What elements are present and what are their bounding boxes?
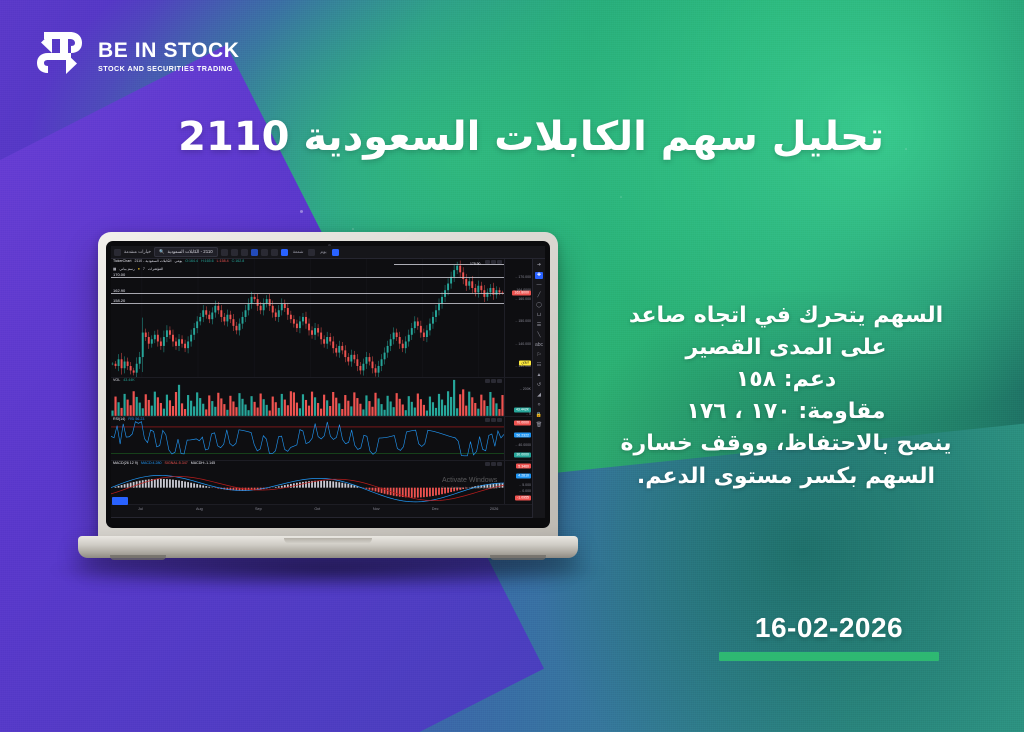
laptop-bezel: يوم شمعة 2110 - الكابلات السعودية 🔍 خيار… — [106, 241, 550, 528]
drawing-toolbar[interactable]: ➜ ✚ — ╱ ◯ ⊔ ☰ ╲ abc ⚐ ☷ ▲ ↺ ◢ ⚪ — [532, 259, 545, 518]
trend-line-icon[interactable]: — — [535, 282, 543, 289]
price-pane[interactable]: TickerChart الكابلات السعودية - 2110 يوم… — [111, 259, 532, 378]
ohlc-close: C:162.8 — [232, 260, 245, 264]
pane-hide-icon[interactable] — [485, 260, 490, 264]
rsi-level-tag[interactable]: 56.2322 — [514, 433, 531, 438]
alert-count: 7 — [143, 268, 145, 272]
rsi-level-tag[interactable]: 30.0000 — [514, 452, 531, 457]
pane-hide-icon[interactable] — [485, 462, 490, 466]
crosshair-icon[interactable]: ✚ — [535, 272, 543, 279]
price-pane-legend: TickerChart الكابلات السعودية - 2110 يوم… — [113, 260, 244, 264]
ellipse-icon[interactable]: ◯ — [535, 302, 543, 309]
price-axis[interactable]: 170.000160.000150.000140.000130.000162.8… — [504, 259, 532, 377]
measure-icon[interactable]: ⊔ — [535, 312, 543, 319]
time-axis-label: Nov — [373, 507, 380, 511]
trash-icon[interactable]: 🗑 — [535, 422, 543, 429]
laptop-base — [78, 536, 578, 558]
macd-label: MACD(26 12 9) — [113, 462, 138, 466]
brand-name: BE IN STOCK — [98, 40, 240, 61]
pane-settings-icon[interactable] — [491, 260, 496, 264]
indicators-label[interactable]: المؤشرات — [148, 268, 163, 272]
laptop-mockup: يوم شمعة 2110 - الكابلات السعودية 🔍 خيار… — [78, 232, 578, 582]
hide-drawings-icon[interactable]: ⚪ — [535, 402, 543, 409]
legend-timeframe: يومي — [174, 260, 182, 264]
symbol-label: 2110 - الكابلات السعودية — [167, 249, 212, 255]
volume-value-tag[interactable]: 43.442K — [514, 407, 531, 412]
fullscreen-icon[interactable] — [271, 249, 278, 256]
date-block: 16-02-2026 — [689, 612, 969, 661]
axis-tick: 140.000 — [515, 342, 531, 346]
last-close-tick: 164.0000 — [513, 288, 531, 292]
laptop-foot-right — [490, 555, 546, 560]
macd-value-tag[interactable]: 5.3460 — [516, 464, 531, 469]
volume-legend: VOL 43.44K — [113, 379, 135, 383]
price-level-line[interactable] — [111, 277, 504, 278]
laptop-base-notch — [284, 538, 372, 544]
axis-tick: 170.000 — [515, 275, 531, 279]
axis-tick: 5.000 — [519, 483, 531, 487]
pane-hide-icon[interactable] — [485, 379, 490, 383]
axis-tick: 0.000 — [519, 489, 531, 493]
volume-value: 43.44K — [123, 379, 134, 383]
candlestick-plot[interactable]: 170.00162.90158.20175.90 — [111, 259, 504, 377]
macd-pane[interactable]: MACD(26 12 9) MACD:4.280 SIGNAL:5.347 MA… — [111, 461, 532, 505]
double-arrow-b-logo-icon — [30, 26, 88, 84]
volume-label: VOL — [113, 379, 120, 383]
time-axis[interactable]: JulAugSepOctNovDec2026 — [111, 505, 532, 517]
chart-scrollbar[interactable] — [111, 517, 532, 518]
flag-icon[interactable]: ⚐ — [535, 352, 543, 359]
page-title: تحليل سهم الكابلات السعودية 2110 — [140, 112, 884, 162]
search-icon[interactable]: 🔍 — [159, 249, 164, 255]
rsi-level-tag[interactable]: 70.0000 — [514, 420, 531, 425]
signal-value: SIGNAL:5.347 — [165, 462, 188, 466]
legend-provider: TickerChart — [113, 260, 131, 264]
rsi-axis[interactable]: 70.000056.232230.000040.0000 — [504, 417, 532, 460]
fib-retracement-icon[interactable]: ☰ — [535, 322, 543, 329]
clock-icon[interactable] — [308, 249, 315, 256]
ohlc-open: O:164.4 — [185, 260, 198, 264]
macd-pane-controls[interactable] — [485, 462, 502, 466]
chart-type-icon[interactable]: ▩ — [113, 268, 116, 272]
time-axis-label: 2026 — [490, 507, 498, 511]
rsi-pane-controls[interactable] — [485, 418, 502, 422]
compare-icon[interactable] — [241, 249, 248, 256]
snapshot-icon[interactable] — [261, 249, 268, 256]
brand-logo: BE IN STOCK STOCK AND SECURITIES TRADING — [30, 26, 240, 84]
price-level-line[interactable] — [111, 303, 504, 304]
price-level-label: 162.90 — [112, 288, 126, 293]
analysis-line: ينصح بالاحتفاظ، ووقف خسارة — [586, 428, 986, 460]
bars-label[interactable]: شمعة — [291, 249, 306, 255]
pane-hide-icon[interactable] — [485, 418, 490, 422]
macdh-value: MACDH:-1.145 — [191, 462, 215, 466]
rsi-value: RSI 56.23 — [128, 418, 144, 422]
rsi-legend: RSI(14) RSI 56.23 — [113, 418, 144, 422]
time-axis-label: Dec — [432, 507, 439, 511]
laptop-foot-left — [110, 555, 166, 560]
interval-label[interactable]: يوم — [318, 249, 328, 255]
symbol-search-box[interactable]: 2110 - الكابلات السعودية 🔍 — [154, 247, 218, 257]
parallel-channel-icon[interactable]: ╲ — [535, 332, 543, 339]
volume-plot[interactable] — [111, 378, 504, 416]
analysis-line: على المدى القصير — [586, 332, 986, 364]
pane-controls[interactable] — [485, 260, 502, 264]
terminal-toolbar[interactable]: يوم شمعة 2110 - الكابلات السعودية 🔍 خيار… — [111, 246, 545, 259]
price-pane-toolrow[interactable]: ▩ رسم بياني ● 7 المؤشرات — [113, 268, 163, 272]
ohlc-high: H:165.6 — [201, 260, 214, 264]
time-axis-ticks[interactable]: JulAugSepOctNovDec2026 — [111, 505, 532, 517]
templates-icon[interactable] — [231, 249, 238, 256]
rsi-label: RSI(14) — [113, 418, 125, 422]
time-axis-label: Jul — [138, 507, 143, 511]
publish-date: 16-02-2026 — [689, 612, 969, 644]
alert-icon[interactable] — [114, 249, 121, 256]
forecast-icon[interactable]: ▲ — [535, 372, 543, 379]
session-close-tag[interactable]: اغلاق — [519, 360, 531, 365]
ohlc-low: L:158.4 — [217, 260, 229, 264]
volume-pane[interactable]: VOL 43.44K 200K043.442K — [111, 378, 532, 417]
date-underline-rule — [719, 652, 939, 661]
magnet-mode-icon[interactable]: ◢ — [535, 392, 543, 399]
laptop-lid: يوم شمعة 2110 - الكابلات السعودية 🔍 خيار… — [98, 232, 558, 542]
time-axis-label: Sep — [255, 507, 262, 511]
magnet-icon[interactable]: ↺ — [535, 382, 543, 389]
cursor-icon[interactable]: ➜ — [535, 262, 543, 269]
time-axis-label: Aug — [196, 507, 203, 511]
pane-remove-icon[interactable] — [497, 260, 502, 264]
ray-line-icon[interactable]: ╱ — [535, 292, 543, 299]
pane-settings-icon[interactable] — [491, 462, 496, 466]
analysis-text: السهم يتحرك في اتجاه صاعد على المدى القص… — [586, 300, 986, 493]
axis-tick: 150.000 — [515, 319, 531, 323]
pane-remove-icon[interactable] — [497, 418, 502, 422]
advanced-options-label[interactable]: خيارات متقدمة — [124, 249, 151, 255]
chart-draw-button[interactable] — [112, 497, 128, 505]
axis-tick: 0 — [526, 412, 531, 416]
macd-axis[interactable]: 5.34604.2810-1.09555.0000.000 — [504, 461, 532, 504]
replay-icon[interactable] — [251, 249, 258, 256]
brand-tagline: STOCK AND SECURITIES TRADING — [98, 65, 240, 72]
analysis-line: السهم بكسر مستوى الدعم. — [586, 461, 986, 493]
volume-axis[interactable]: 200K043.442K — [504, 378, 532, 416]
chart-type-label[interactable]: رسم بياني — [119, 268, 134, 272]
macd-legend: MACD(26 12 9) MACD:4.280 SIGNAL:5.347 MA… — [113, 462, 215, 466]
text-icon[interactable]: abc — [535, 342, 543, 349]
price-level-line[interactable] — [111, 293, 504, 294]
pencil-icon[interactable] — [332, 249, 339, 256]
pane-remove-icon[interactable] — [497, 379, 502, 383]
rsi-plot[interactable] — [111, 417, 504, 460]
patterns-icon[interactable]: ☷ — [535, 362, 543, 369]
terminal-body: TickerChart الكابلات السعودية - 2110 يوم… — [111, 259, 545, 518]
macd-value: MACD:4.280 — [141, 462, 162, 466]
axis-tick: 200K — [520, 387, 531, 391]
analysis-line-resistance: مقاومة: ١٧٠ ، ١٧٦ — [586, 396, 986, 428]
pane-settings-icon[interactable] — [491, 379, 496, 383]
legend-symbol-name: الكابلات السعودية - 2110 — [134, 260, 171, 264]
pane-remove-icon[interactable] — [497, 462, 502, 466]
analysis-line: السهم يتحرك في اتجاه صاعد — [586, 300, 986, 332]
chart-panes: TickerChart الكابلات السعودية - 2110 يوم… — [111, 259, 532, 518]
pane-settings-icon[interactable] — [491, 418, 496, 422]
trading-terminal-screen: يوم شمعة 2110 - الكابلات السعودية 🔍 خيار… — [111, 246, 545, 518]
macd-plot[interactable] — [111, 461, 504, 504]
macd-value-tag[interactable]: 4.2810 — [516, 473, 531, 478]
volume-pane-controls[interactable] — [485, 379, 502, 383]
alert-bell-icon[interactable]: ● — [138, 268, 140, 272]
settings-icon[interactable] — [281, 249, 288, 256]
top-marker-label: 175.90 — [470, 262, 480, 266]
rsi-pane[interactable]: RSI(14) RSI 56.23 70.000056.232230.00004… — [111, 417, 532, 461]
time-axis-label: Oct — [314, 507, 320, 511]
axis-tick: 160.000 — [515, 297, 531, 301]
lock-icon[interactable]: 🔒 — [535, 412, 543, 419]
axis-tick: 40.0000 — [515, 443, 531, 447]
analysis-line-support: دعم: ١٥٨ — [586, 364, 986, 396]
price-level-label: 170.00 — [112, 272, 126, 277]
macd-value-tag[interactable]: -1.0955 — [515, 495, 531, 500]
indicators-icon[interactable] — [221, 249, 228, 256]
price-level-label: 158.20 — [112, 298, 126, 303]
